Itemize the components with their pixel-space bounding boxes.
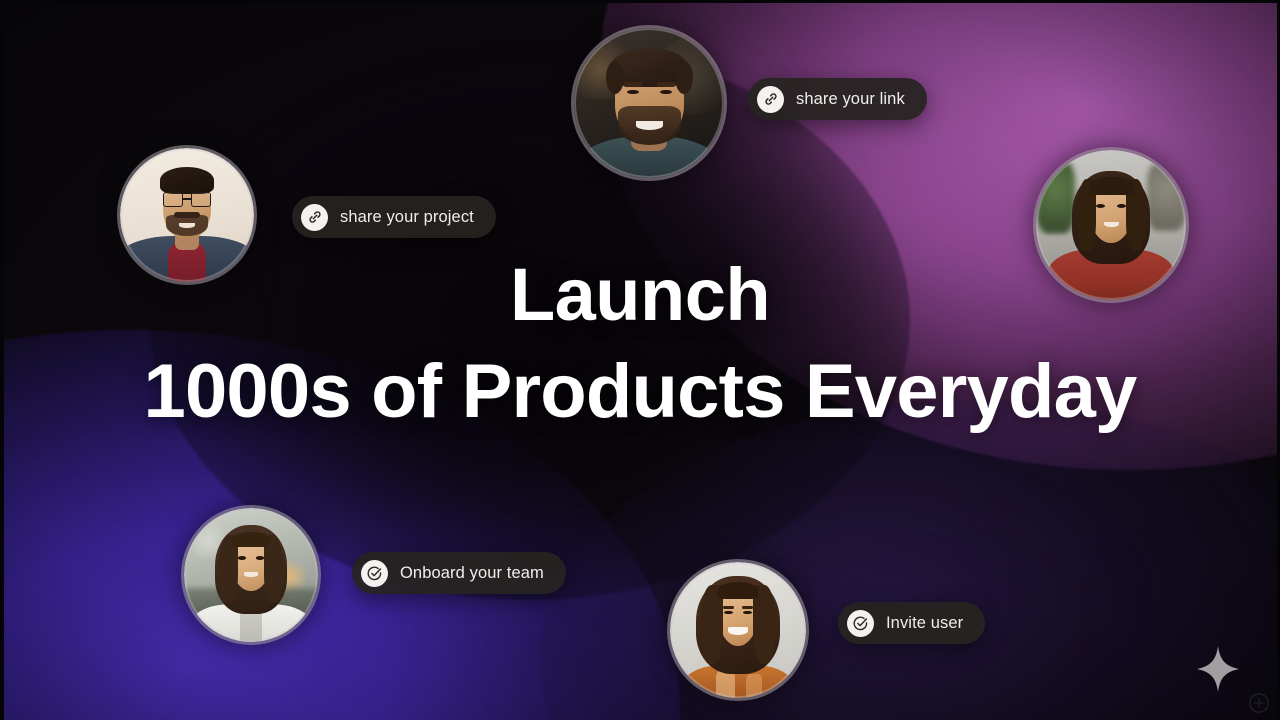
avatar-photo: [120, 148, 254, 282]
avatar-top-center[interactable]: [574, 28, 724, 178]
pill-share-your-project[interactable]: share your project: [292, 196, 496, 238]
avatar-photo: [1036, 150, 1186, 300]
pill-invite-user[interactable]: Invite user: [838, 602, 985, 644]
pill-label: share your project: [340, 209, 474, 226]
link-icon: [301, 204, 328, 231]
avatar-left[interactable]: [120, 148, 254, 282]
pill-label: Invite user: [886, 615, 963, 632]
pill-label: share your link: [796, 91, 905, 108]
avatar-bottom-center[interactable]: [670, 562, 806, 698]
pill-label: Onboard your team: [400, 565, 544, 582]
pill-onboard-your-team[interactable]: Onboard your team: [352, 552, 566, 594]
hero-stage: Launch 1000s of Products Everyday: [0, 0, 1280, 720]
pill-share-your-link[interactable]: share your link: [748, 78, 927, 120]
watermark-icon: [1248, 692, 1270, 714]
avatar-photo: [574, 28, 724, 178]
avatar-photo: [670, 562, 806, 698]
sparkle-icon: [1196, 645, 1240, 693]
check-circle-icon: [847, 610, 874, 637]
link-icon: [757, 86, 784, 113]
headline-line-2: 1000s of Products Everyday: [0, 352, 1280, 432]
check-circle-icon: [361, 560, 388, 587]
avatar-photo: [184, 508, 318, 642]
avatar-right[interactable]: [1036, 150, 1186, 300]
avatar-bottom-left[interactable]: [184, 508, 318, 642]
